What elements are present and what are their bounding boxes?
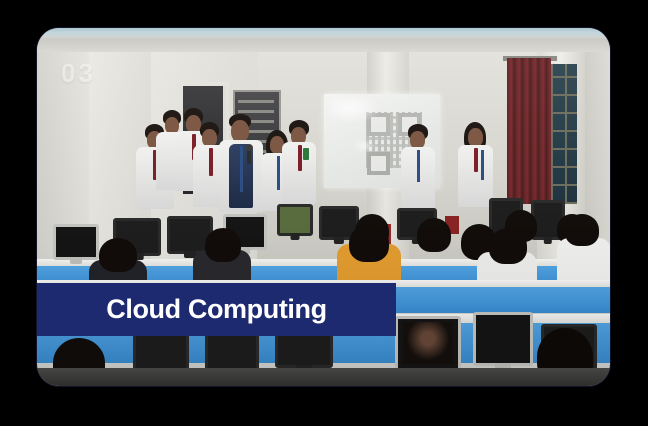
audience-head — [417, 218, 451, 252]
qr-finder-bottom-left — [367, 152, 390, 175]
caption-bar: Cloud Computing — [37, 283, 396, 336]
screen-glare-secondary — [353, 140, 375, 152]
photo-card[interactable]: 03 Cloud Computing — [37, 28, 610, 386]
audience-head — [349, 224, 389, 262]
monitor — [53, 224, 99, 260]
audience-head — [205, 228, 241, 262]
photo-watermark: 03 — [61, 58, 96, 89]
window-grill — [551, 64, 577, 204]
screenshot-stage: 03 Cloud Computing — [0, 0, 648, 426]
monitor — [277, 204, 313, 236]
audience-head — [565, 214, 599, 246]
floor — [37, 368, 610, 386]
ceiling-duct — [37, 28, 610, 38]
monitor-image — [403, 322, 453, 364]
caption-title: Cloud Computing — [106, 294, 326, 325]
screen-glare — [329, 98, 381, 124]
monitor — [473, 312, 533, 366]
window-curtain — [507, 58, 551, 204]
audience-head — [489, 228, 527, 264]
audience-head — [99, 238, 137, 272]
